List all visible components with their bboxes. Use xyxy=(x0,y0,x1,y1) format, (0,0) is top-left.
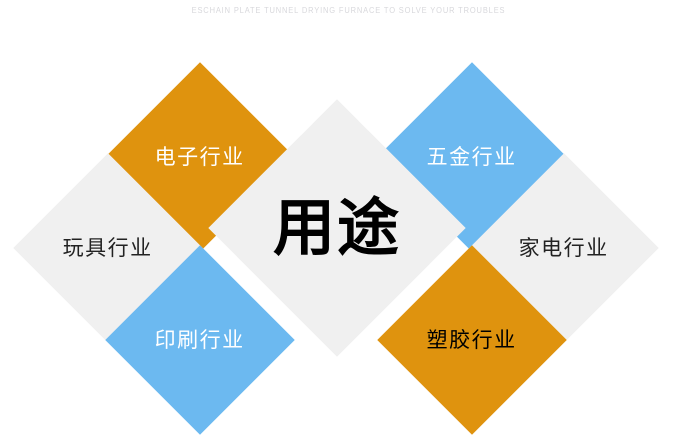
diamond-label-toys: 玩具行业 xyxy=(63,238,153,259)
diamond-label-electronics: 电子行业 xyxy=(155,147,245,168)
diamond-label-printing: 印刷行业 xyxy=(155,330,245,351)
diamond-label-plastic: 塑胶行业 xyxy=(427,330,517,351)
diamond-label-appliance: 家电行业 xyxy=(519,238,609,259)
banner-tagline: ESCHAIN PLATE TUNNEL DRYING FURNACE TO S… xyxy=(192,5,506,14)
diamond-label-hardware: 五金行业 xyxy=(427,147,517,168)
diamond-diagram: 电子行业 五金行业 玩具行业 家电行业 印刷行业 塑胶行业 用途 xyxy=(0,20,697,414)
center-title: 用途 xyxy=(273,197,401,259)
header-banner: ESCHAIN PLATE TUNNEL DRYING FURNACE TO S… xyxy=(0,0,697,20)
